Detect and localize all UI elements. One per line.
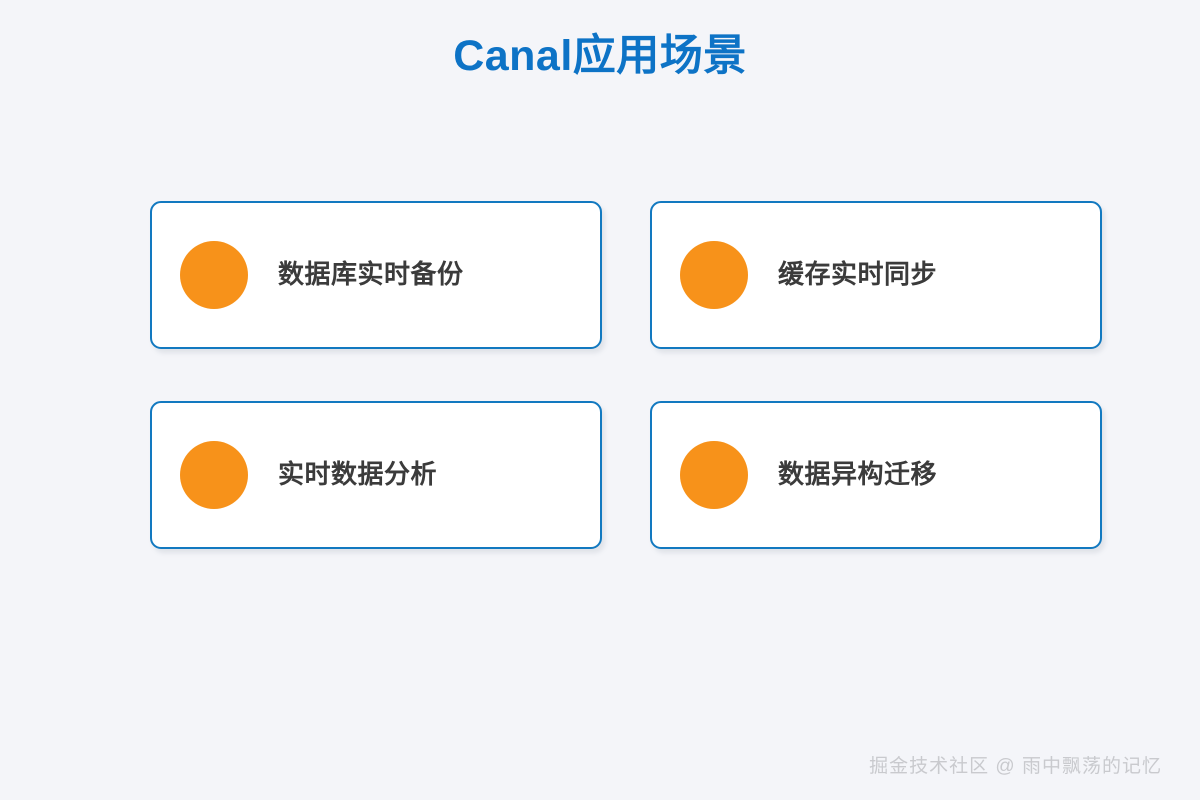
scenario-card-4[interactable]: 数据异构迁移 bbox=[650, 401, 1102, 549]
orange-circle-icon bbox=[680, 441, 748, 509]
page-title: Canal应用场景 bbox=[0, 30, 1200, 84]
scenario-card-1-label: 数据库实时备份 bbox=[278, 259, 464, 290]
watermark: 掘金技术社区 @ 雨中飘荡的记忆 bbox=[869, 751, 1162, 778]
scenario-card-3[interactable]: 实时数据分析 bbox=[150, 401, 602, 549]
scenario-card-2-label: 缓存实时同步 bbox=[778, 259, 937, 290]
orange-circle-icon bbox=[180, 441, 248, 509]
scenario-card-1[interactable]: 数据库实时备份 bbox=[150, 201, 602, 349]
slide-canvas: Canal应用场景 数据库实时备份 缓存实时同步 实时数据分析 数据异构迁移 掘… bbox=[0, 0, 1200, 800]
scenario-card-grid: 数据库实时备份 缓存实时同步 实时数据分析 数据异构迁移 bbox=[150, 201, 1102, 549]
orange-circle-icon bbox=[680, 241, 748, 309]
orange-circle-icon bbox=[180, 241, 248, 309]
scenario-card-4-label: 数据异构迁移 bbox=[778, 459, 937, 490]
scenario-card-3-label: 实时数据分析 bbox=[278, 459, 437, 490]
scenario-card-2[interactable]: 缓存实时同步 bbox=[650, 201, 1102, 349]
